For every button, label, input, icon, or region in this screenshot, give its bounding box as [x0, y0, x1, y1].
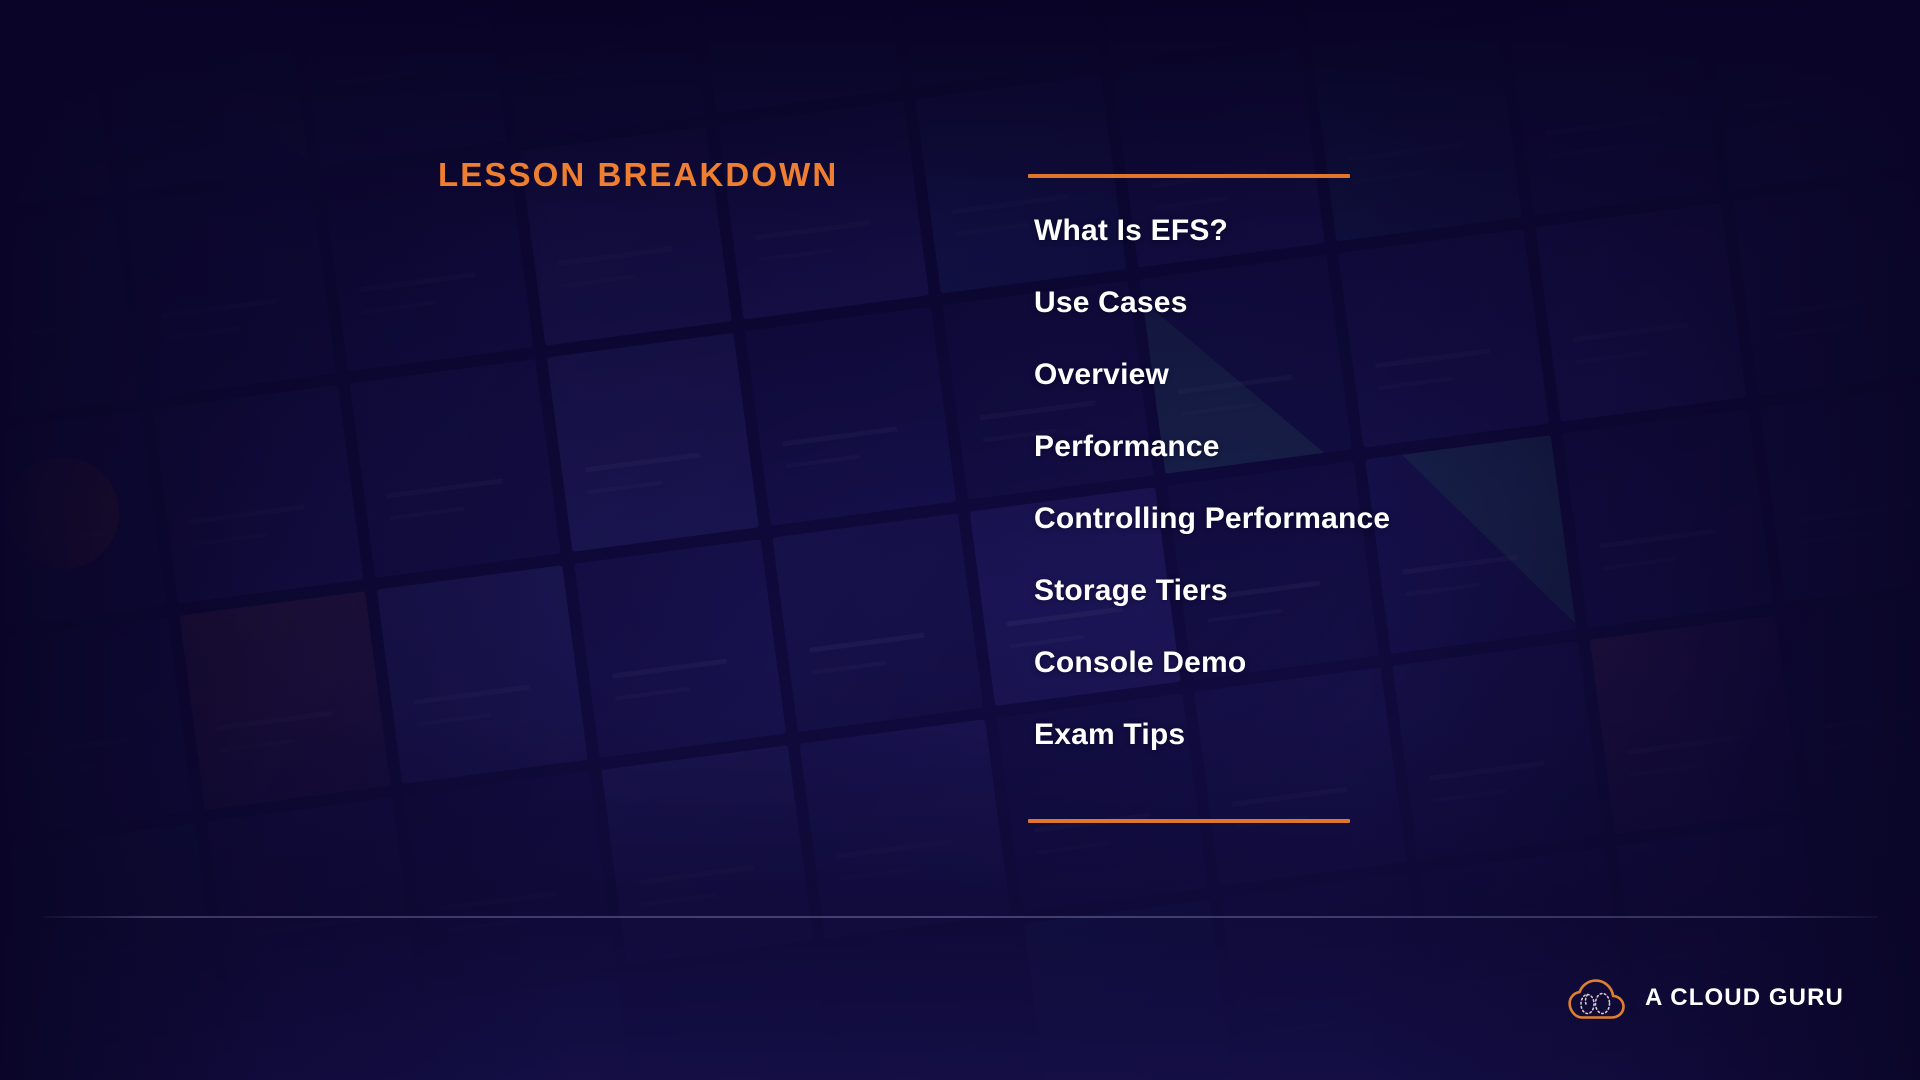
slide-content: LESSON BREAKDOWN What Is EFS? Use Cases …	[0, 0, 1920, 1080]
lesson-topic-list: What Is EFS? Use Cases Overview Performa…	[1034, 216, 1390, 792]
list-item: Console Demo	[1034, 648, 1390, 720]
list-item: Controlling Performance	[1034, 504, 1390, 576]
divider-bottom	[1028, 819, 1350, 823]
footer-hairline	[44, 916, 1878, 918]
list-item: Overview	[1034, 360, 1390, 432]
list-item: Storage Tiers	[1034, 576, 1390, 648]
list-item: Performance	[1034, 432, 1390, 504]
divider-top	[1028, 174, 1350, 178]
slide-canvas: LESSON BREAKDOWN What Is EFS? Use Cases …	[0, 0, 1920, 1080]
brand-name: A CLOUD GURU	[1645, 984, 1844, 1012]
brand-logo: A CLOUD GURU	[1566, 976, 1844, 1020]
list-item: Use Cases	[1034, 288, 1390, 360]
list-item: Exam Tips	[1034, 720, 1390, 792]
cloud-icon	[1566, 976, 1628, 1020]
list-item: What Is EFS?	[1034, 216, 1390, 288]
page-title: LESSON BREAKDOWN	[438, 156, 838, 194]
